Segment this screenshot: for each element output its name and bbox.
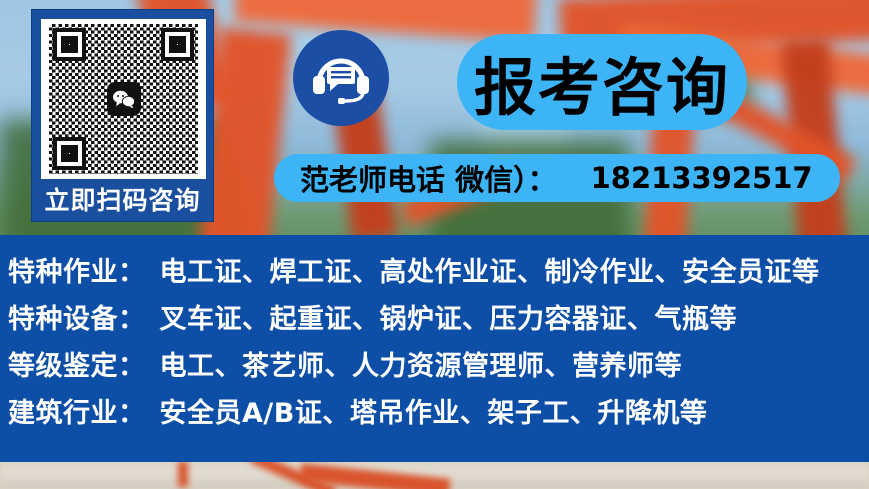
contact-phone-number[interactable]: 18213392517 [591, 161, 813, 195]
headset-support-icon [293, 30, 389, 126]
qr-code-modules [49, 24, 198, 174]
category-row: 等级鉴定： 电工、茶艺师、人力资源管理师、营养师等 [8, 343, 869, 390]
qr-code-card[interactable]: 立即扫码咨询 [31, 9, 214, 222]
qr-card-caption: 立即扫码咨询 [41, 179, 204, 223]
category-row: 建筑行业： 安全员A/B证、塔吊作业、架子工、升降机等 [8, 390, 869, 437]
consultation-title-pill: 报考咨询 [457, 34, 747, 130]
category-label: 特种作业： [8, 249, 146, 296]
category-items: 安全员A/B证、塔吊作业、架子工、升降机等 [160, 390, 708, 437]
qr-finder-pattern-icon [53, 28, 86, 61]
qr-finder-pattern-icon [53, 137, 86, 170]
category-row: 特种设备： 叉车证、起重证、锅炉证、压力容器证、气瓶等 [8, 296, 869, 343]
promotional-poster: 立即扫码咨询 报考咨询 范老师电话 微信）： 18213392517 特种作业：… [0, 0, 869, 489]
category-row: 特种作业： 电工证、焊工证、高处作业证、制冷作业、安全员证等 [8, 249, 869, 296]
contact-phone-pill[interactable]: 范老师电话 微信）： 18213392517 [274, 154, 840, 202]
page-title: 报考咨询 [474, 37, 730, 127]
contact-label: 范老师电话 微信）： [300, 157, 557, 199]
category-label: 等级鉴定： [8, 343, 146, 390]
wechat-icon [107, 82, 141, 116]
qr-code-image[interactable] [41, 19, 206, 179]
category-list: 特种作业： 电工证、焊工证、高处作业证、制冷作业、安全员证等 特种设备： 叉车证… [0, 235, 869, 462]
category-label: 建筑行业： [8, 390, 146, 437]
qr-finder-pattern-icon [161, 28, 194, 61]
background-ground-post [178, 461, 188, 487]
category-label: 特种设备： [8, 296, 146, 343]
category-items: 叉车证、起重证、锅炉证、压力容器证、气瓶等 [160, 296, 738, 343]
category-items: 电工证、焊工证、高处作业证、制冷作业、安全员证等 [160, 249, 820, 296]
category-items: 电工、茶艺师、人力资源管理师、营养师等 [160, 343, 683, 390]
